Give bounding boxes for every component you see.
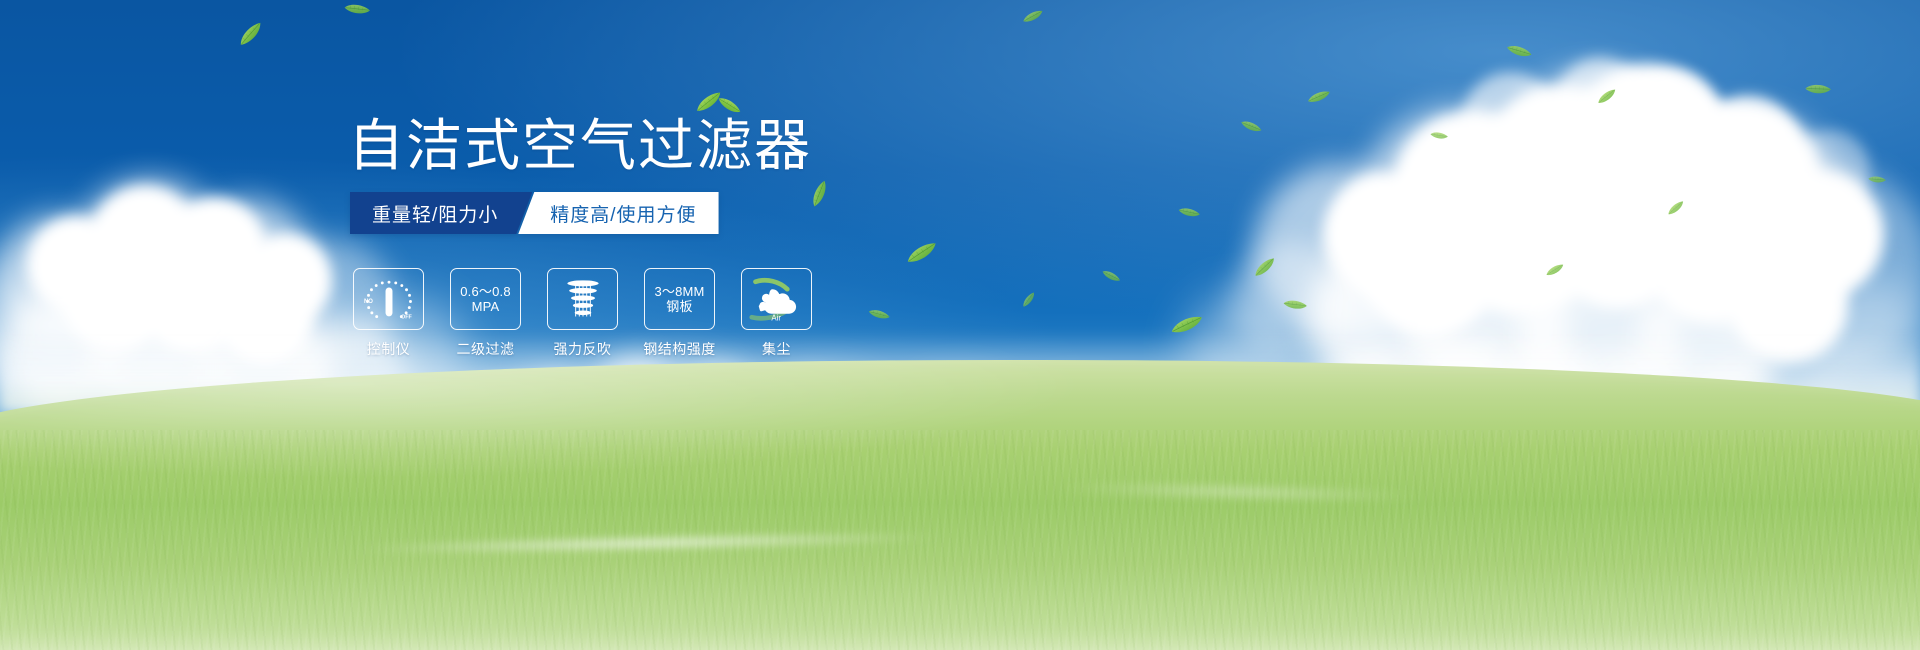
feature-item[interactable]: 0.6～0.8 MPA 二级过滤 [449, 268, 522, 359]
svg-text:Air: Air [771, 313, 781, 322]
steel-plate-text-icon: 3～8MM 钢板 [644, 268, 715, 330]
air-cloud-icon: Air [741, 268, 812, 330]
feature-caption: 控制仪 [367, 339, 411, 359]
banner-stage: 自洁式空气过滤器 重量轻/阻力小 精度高/使用方便 [0, 0, 1920, 650]
banner-content: 自洁式空气过滤器 重量轻/阻力小 精度高/使用方便 [0, 0, 1920, 650]
tagline-badge: 重量轻/阻力小 精度高/使用方便 [350, 192, 719, 234]
feature-item[interactable]: NO OFF 控制仪 [352, 268, 425, 359]
back-blow-coil-icon [547, 268, 618, 330]
tagline-badge-right: 精度高/使用方便 [518, 192, 718, 234]
feature-value-line2: 钢板 [654, 299, 704, 314]
pressure-text-icon: 0.6～0.8 MPA [450, 268, 521, 330]
feature-value-line2: MPA [460, 299, 511, 314]
feature-item[interactable]: 强力反吹 [546, 268, 619, 359]
tagline-badge-left: 重量轻/阻力小 [350, 192, 532, 234]
feature-value-line1: 0.6～0.8 [460, 284, 511, 299]
feature-caption: 集尘 [762, 339, 791, 359]
control-gauge-icon: NO OFF [353, 268, 424, 330]
feature-caption: 二级过滤 [457, 339, 515, 359]
svg-text:OFF: OFF [401, 315, 412, 321]
feature-item[interactable]: Air 集尘 [740, 268, 813, 359]
feature-item[interactable]: 3～8MM 钢板 钢结构强度 [643, 268, 716, 359]
feature-caption: 强力反吹 [554, 339, 612, 359]
page-title: 自洁式空气过滤器 [348, 118, 812, 174]
feature-caption: 钢结构强度 [643, 339, 716, 359]
feature-list: NO OFF 控制仪 0.6～0.8 MPA 二级过滤 [352, 268, 813, 359]
svg-text:NO: NO [363, 299, 372, 305]
feature-value-line1: 3～8MM [654, 284, 704, 299]
